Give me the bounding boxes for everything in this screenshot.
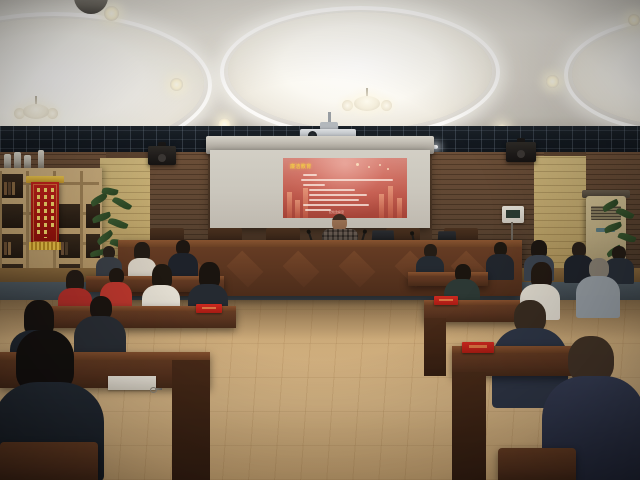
table-diamond-panel <box>227 251 264 288</box>
plant-leaf <box>89 192 108 207</box>
plant-leaf <box>617 231 636 244</box>
slide-body-line <box>305 209 331 211</box>
red-notebook[interactable] <box>434 296 458 305</box>
projection-screen: 廉洁教育 纪检监察室 <box>210 150 430 228</box>
slide-body-line <box>309 199 359 201</box>
chandelier-body <box>354 96 380 111</box>
slide-title: 廉洁教育 <box>290 163 312 170</box>
pennant-text-column <box>44 188 47 238</box>
book <box>12 182 15 195</box>
slide-decor-column <box>388 186 393 218</box>
trophy <box>38 150 44 168</box>
slide-decor-column <box>295 200 300 218</box>
keys[interactable] <box>150 386 162 391</box>
chandelier-left <box>14 96 58 126</box>
pennant-gold-fringe <box>29 242 61 250</box>
book <box>61 242 64 255</box>
chandelier-arm <box>381 100 392 111</box>
attendee <box>576 258 620 316</box>
slide-body-line <box>303 174 317 176</box>
pennant-text-column <box>51 188 54 230</box>
attendee <box>486 242 514 278</box>
chair-back-foreground <box>0 442 98 480</box>
slide-body-line <box>309 194 367 196</box>
slide-body-line <box>303 204 369 206</box>
pennant-text-column <box>37 188 40 234</box>
conference-room-photo: 廉洁教育 纪检监察室 <box>0 0 640 480</box>
desk-side-panel <box>172 360 210 480</box>
presentation-slide: 廉洁教育 纪检监察室 <box>283 158 407 218</box>
book <box>4 182 7 195</box>
slide-decor-column <box>303 188 308 218</box>
slide-decor-glow <box>379 164 381 166</box>
downlight-icon <box>546 75 559 88</box>
slide-body-line <box>301 179 393 181</box>
slide-decor-column <box>397 198 402 218</box>
dome-camera-icon <box>74 0 108 14</box>
slide-decor-glow <box>368 166 370 168</box>
wall-speaker-left <box>148 146 176 165</box>
desk-side-panel <box>424 318 446 376</box>
book <box>8 182 11 195</box>
book <box>65 242 68 255</box>
attendee-body <box>576 276 620 318</box>
paper-sheet <box>108 376 156 390</box>
book <box>4 242 7 255</box>
chandelier-mid <box>342 88 392 120</box>
wall-display-panel[interactable] <box>502 206 524 223</box>
table-diamond-panel <box>339 251 376 288</box>
ceiling-cove-ring-right <box>564 16 640 132</box>
plant-leaf <box>615 206 634 221</box>
chandelier-body <box>23 104 49 119</box>
desk-side-panel <box>452 372 486 480</box>
trophy <box>14 152 21 168</box>
slide-decor-glow <box>356 163 359 166</box>
downlight-icon <box>170 78 183 91</box>
red-notebook[interactable] <box>196 304 222 313</box>
bookshelf-cell <box>59 204 80 228</box>
trophy <box>4 154 11 168</box>
slide-body-line <box>303 184 325 186</box>
red-pennant-banner <box>31 182 59 244</box>
red-notebook[interactable] <box>462 342 494 353</box>
book <box>8 242 11 255</box>
slide-decor-glow <box>387 168 389 170</box>
slide-body-line <box>309 189 355 191</box>
downlight-icon <box>628 14 640 26</box>
slide-decor-column <box>379 194 384 218</box>
wall-speaker-right <box>506 142 536 162</box>
downlight-icon <box>104 6 119 21</box>
attendee-body <box>486 254 514 280</box>
ceiling <box>0 0 640 132</box>
chandelier-arm <box>342 100 353 111</box>
plant-leaf <box>112 195 133 212</box>
bookshelf-cell <box>2 204 23 228</box>
chair-back-foreground-right <box>498 448 576 480</box>
trophy <box>24 155 31 168</box>
plant-leaf <box>107 216 128 231</box>
table-diamond-panel <box>283 251 320 288</box>
slide-decor-column <box>287 192 292 218</box>
